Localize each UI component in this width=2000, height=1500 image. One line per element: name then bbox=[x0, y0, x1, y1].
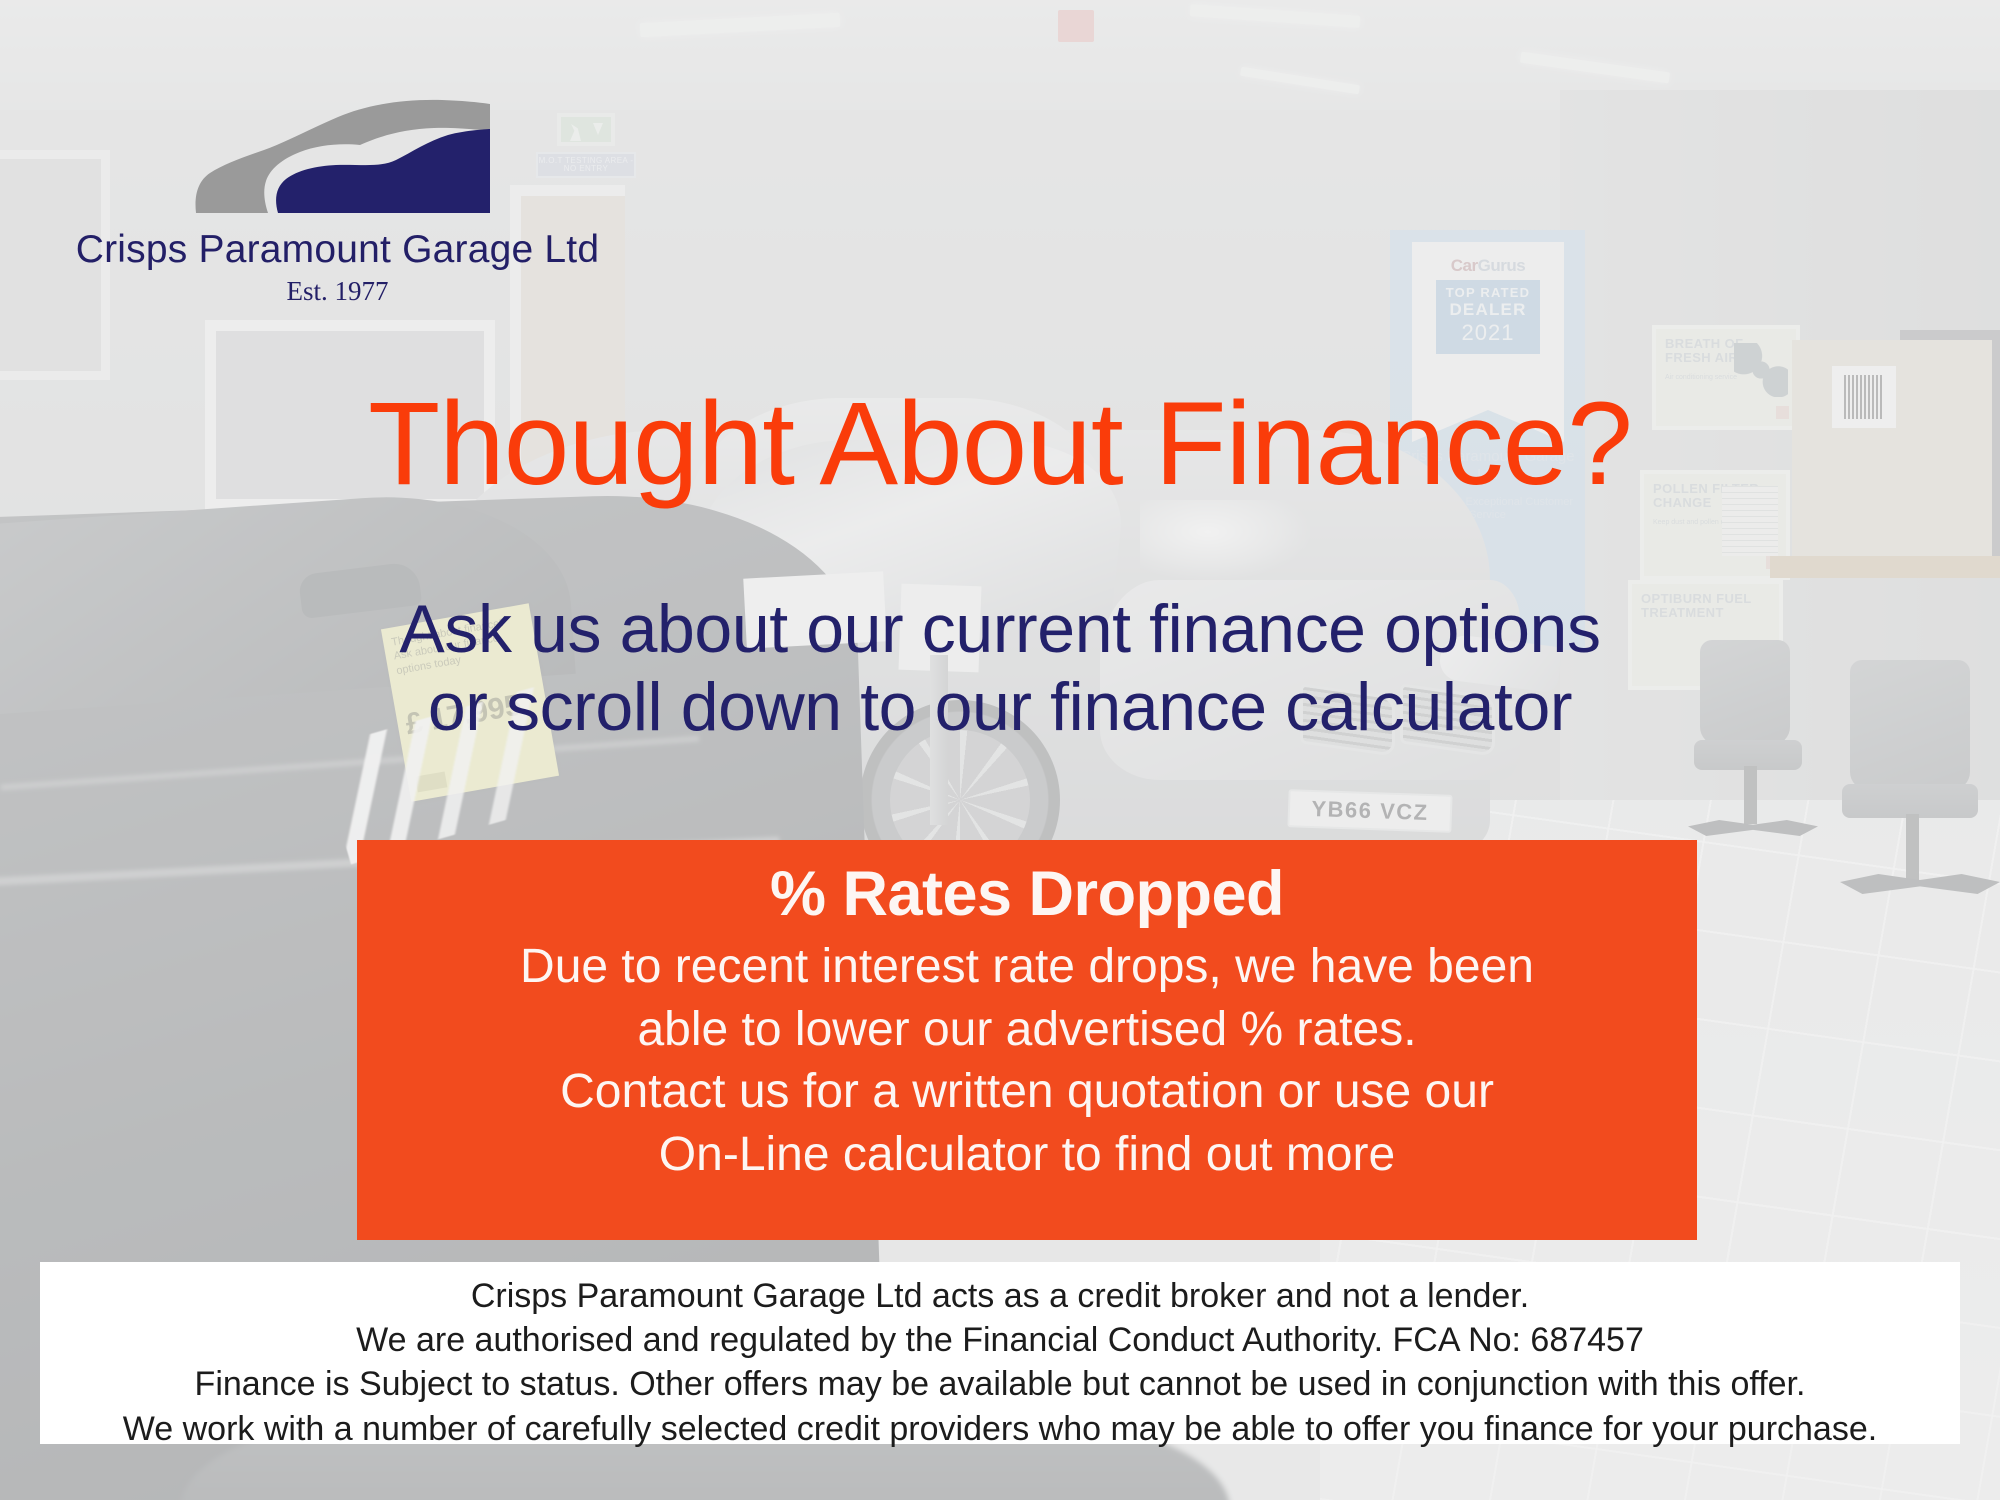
disclaimer-line-1: Crisps Paramount Garage Ltd acts as a cr… bbox=[40, 1274, 1960, 1318]
subheadline-line-2: or scroll down to our finance calculator bbox=[0, 668, 2000, 746]
promotional-content: Crisps Paramount Garage Ltd Est. 1977 Th… bbox=[0, 0, 2000, 1500]
promo-line-3: Contact us for a written quotation or us… bbox=[357, 1061, 1697, 1123]
subheadline-line-1: Ask us about our current finance options bbox=[0, 590, 2000, 668]
disclaimer-line-3: Finance is Subject to status. Other offe… bbox=[40, 1362, 1960, 1406]
disclaimer-line-2: We are authorised and regulated by the F… bbox=[40, 1318, 1960, 1362]
page-headline: Thought About Finance? bbox=[0, 385, 2000, 503]
brand-established: Est. 1977 bbox=[50, 276, 625, 307]
promo-line-1: Due to recent interest rate drops, we ha… bbox=[357, 936, 1697, 998]
legal-disclaimer: Crisps Paramount Garage Ltd acts as a cr… bbox=[40, 1262, 1960, 1444]
rates-dropped-banner: % Rates Dropped Due to recent interest r… bbox=[357, 840, 1697, 1240]
disclaimer-line-4: We work with a number of carefully selec… bbox=[40, 1407, 1960, 1451]
promo-body: Due to recent interest rate drops, we ha… bbox=[357, 936, 1697, 1186]
promo-title: % Rates Dropped bbox=[357, 858, 1697, 930]
car-silhouette-logo-icon bbox=[190, 95, 510, 220]
brand-name: Crisps Paramount Garage Ltd bbox=[50, 228, 625, 272]
promo-line-4: On-Line calculator to find out more bbox=[357, 1124, 1697, 1186]
brand-logo-block: Crisps Paramount Garage Ltd Est. 1977 bbox=[50, 95, 670, 307]
promo-line-2: able to lower our advertised % rates. bbox=[357, 999, 1697, 1061]
page-subheadline: Ask us about our current finance options… bbox=[0, 590, 2000, 746]
